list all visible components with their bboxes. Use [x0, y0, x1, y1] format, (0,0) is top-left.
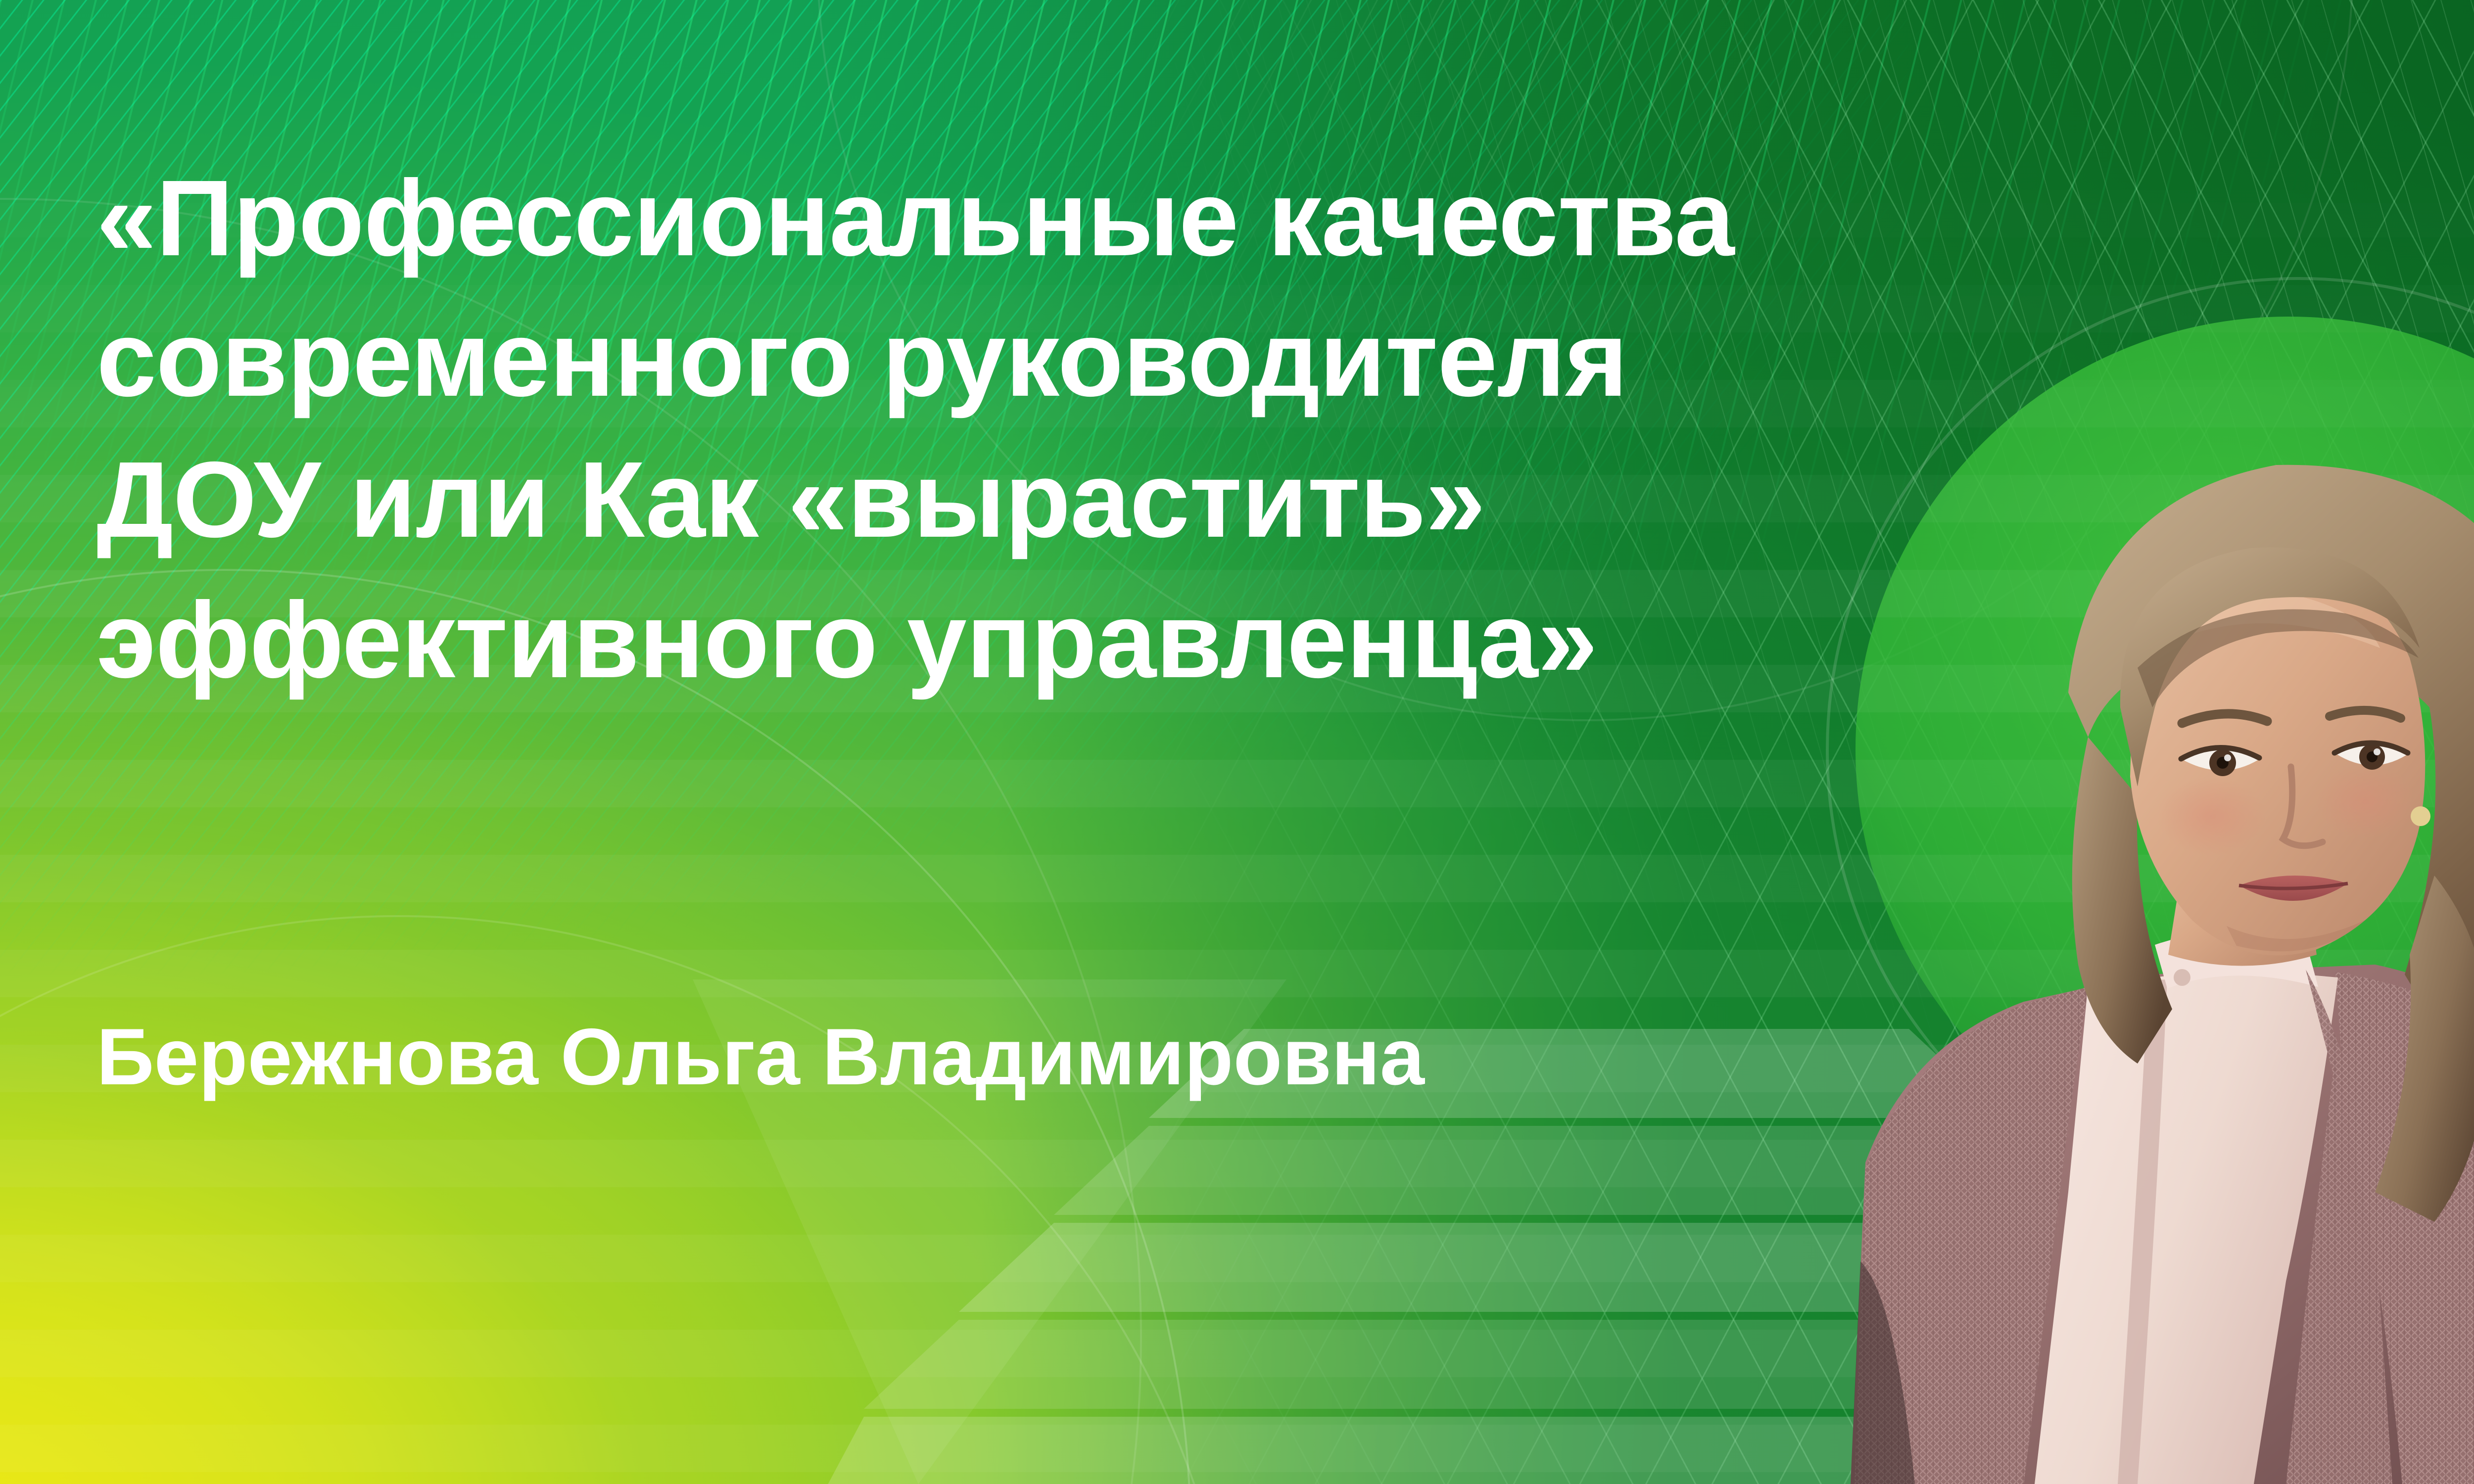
title-line-1: «Профессиональные качества — [96, 148, 2125, 289]
title-block: «Профессиональные качества современного … — [96, 148, 2125, 711]
author-name: Бережнова Ольга Владимировна — [96, 1013, 1425, 1101]
title-line-4: эффективного управленца» — [96, 570, 2125, 711]
earring — [2411, 806, 2430, 826]
presentation-slide: «Профессиональные качества современного … — [0, 0, 2474, 1484]
cheek-left — [2157, 777, 2266, 856]
cheek-right — [2316, 764, 2415, 838]
blouse-button — [2174, 969, 2190, 986]
page-title: «Профессиональные качества современного … — [96, 148, 2125, 711]
title-line-2: современного руководителя — [96, 289, 2125, 429]
title-line-3: ДОУ или Как «вырастить» — [96, 430, 2125, 570]
